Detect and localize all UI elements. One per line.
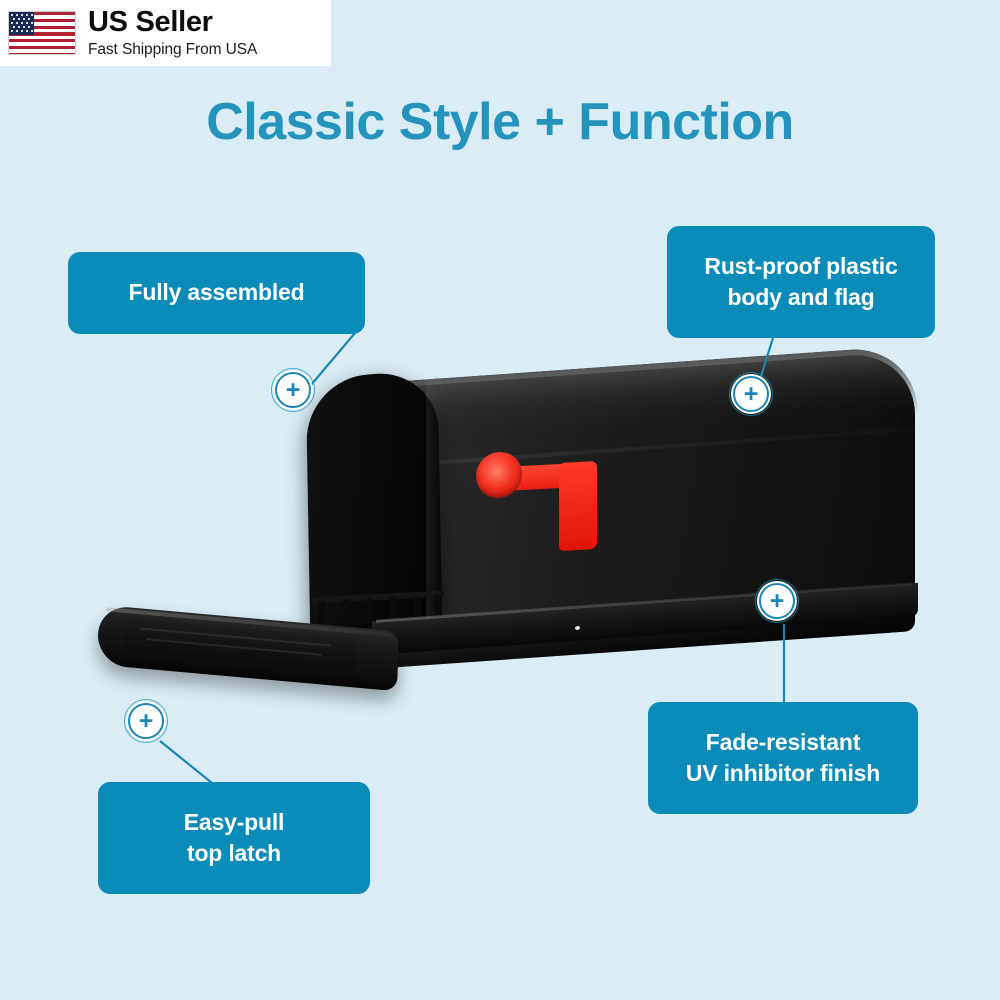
plus-symbol: + bbox=[271, 368, 315, 412]
us-seller-badge-text: US Seller Fast Shipping From USA bbox=[88, 8, 257, 58]
page-title: Classic Style + Function bbox=[0, 92, 1000, 152]
flag-canton bbox=[9, 12, 34, 35]
callout-fully-assembled[interactable]: Fully assembled bbox=[68, 252, 365, 334]
callout-rust-proof-line-1: Rust-proof plastic bbox=[704, 253, 897, 279]
plus-symbol: + bbox=[124, 699, 168, 743]
callout-easy-pull-latch[interactable]: Easy-pull top latch bbox=[98, 782, 370, 894]
plus-symbol: + bbox=[755, 579, 799, 623]
infographic-canvas: US Seller Fast Shipping From USA Classic… bbox=[0, 0, 1000, 1000]
mailbox-flag-blade bbox=[559, 461, 597, 551]
us-seller-subtitle: Fast Shipping From USA bbox=[88, 42, 257, 58]
callout-easy-pull-latch-line-2: top latch bbox=[187, 840, 281, 866]
callout-rust-proof-label: Rust-proof plastic body and flag bbox=[704, 251, 897, 313]
callout-fade-resistant-label: Fade-resistant UV inhibitor finish bbox=[686, 727, 880, 789]
callout-fade-resistant-line-2: UV inhibitor finish bbox=[686, 760, 880, 786]
plus-icon-rust-proof[interactable]: + bbox=[729, 372, 773, 416]
callout-fully-assembled-label: Fully assembled bbox=[129, 277, 305, 308]
callout-easy-pull-latch-line-1: Easy-pull bbox=[184, 809, 284, 835]
plus-icon-fully-assembled[interactable]: + bbox=[271, 368, 315, 412]
flag-stars bbox=[9, 12, 34, 35]
us-flag-icon bbox=[8, 11, 76, 55]
callout-rust-proof-line-2: body and flag bbox=[728, 284, 875, 310]
callout-fade-resistant-line-1: Fade-resistant bbox=[706, 729, 860, 755]
callout-rust-proof[interactable]: Rust-proof plastic body and flag bbox=[667, 226, 935, 338]
plus-symbol: + bbox=[729, 372, 773, 416]
callout-easy-pull-latch-label: Easy-pull top latch bbox=[184, 807, 284, 869]
callout-fade-resistant[interactable]: Fade-resistant UV inhibitor finish bbox=[648, 702, 918, 814]
plus-icon-fade-resistant[interactable]: + bbox=[755, 579, 799, 623]
plus-icon-easy-pull-latch[interactable]: + bbox=[124, 699, 168, 743]
us-seller-title: US Seller bbox=[88, 8, 257, 37]
us-seller-badge: US Seller Fast Shipping From USA bbox=[0, 0, 331, 66]
